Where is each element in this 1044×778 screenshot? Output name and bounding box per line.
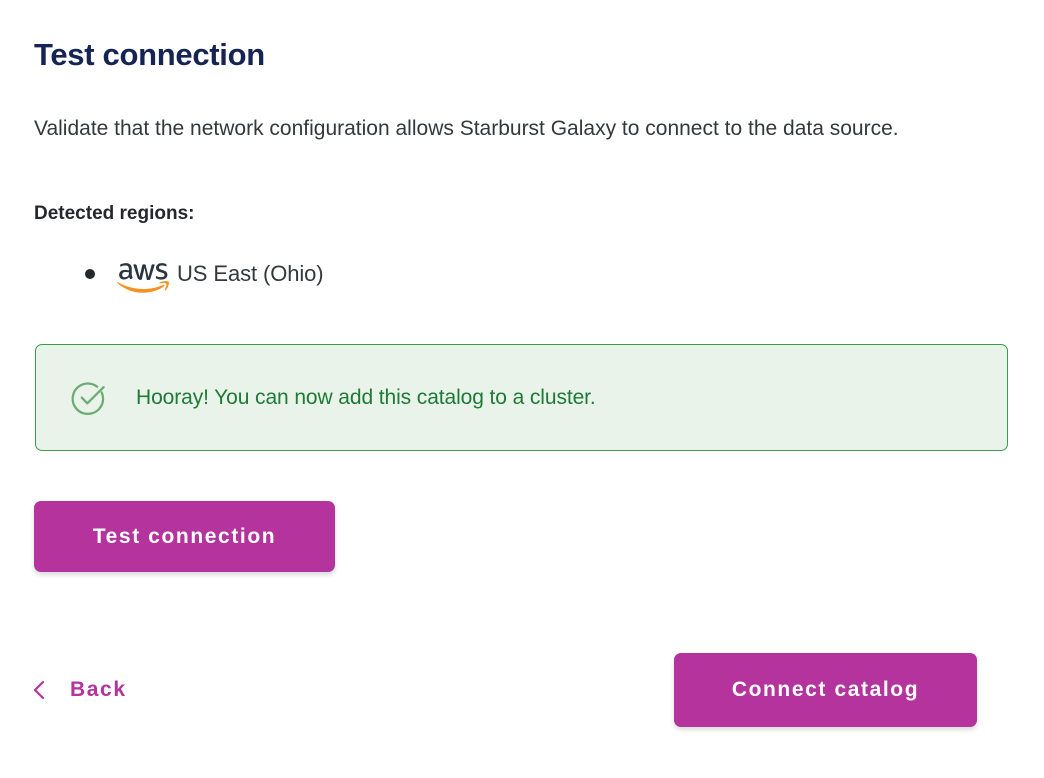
connect-catalog-button[interactable]: Connect catalog [674,653,977,727]
back-label: Back [70,676,127,704]
check-circle-icon [70,379,108,417]
test-connection-button[interactable]: Test connection [34,501,335,572]
back-button[interactable]: Back [30,668,127,712]
status-banner-success: Hooray! You can now add this catalog to … [35,344,1008,451]
list-item: US East (Ohio) [34,252,324,296]
detected-regions-label: Detected regions: [34,200,194,228]
region-name: US East (Ohio) [177,259,324,289]
status-message: Hooray! You can now add this catalog to … [136,383,596,413]
page-title: Test connection [34,33,265,77]
page-description: Validate that the network configuration … [34,105,994,153]
chevron-left-icon [30,679,48,701]
aws-logo-icon [117,261,169,293]
detected-regions-list: US East (Ohio) [34,252,324,296]
test-connection-panel: Test connection Validate that the networ… [0,0,1044,778]
bullet-icon [85,269,95,279]
